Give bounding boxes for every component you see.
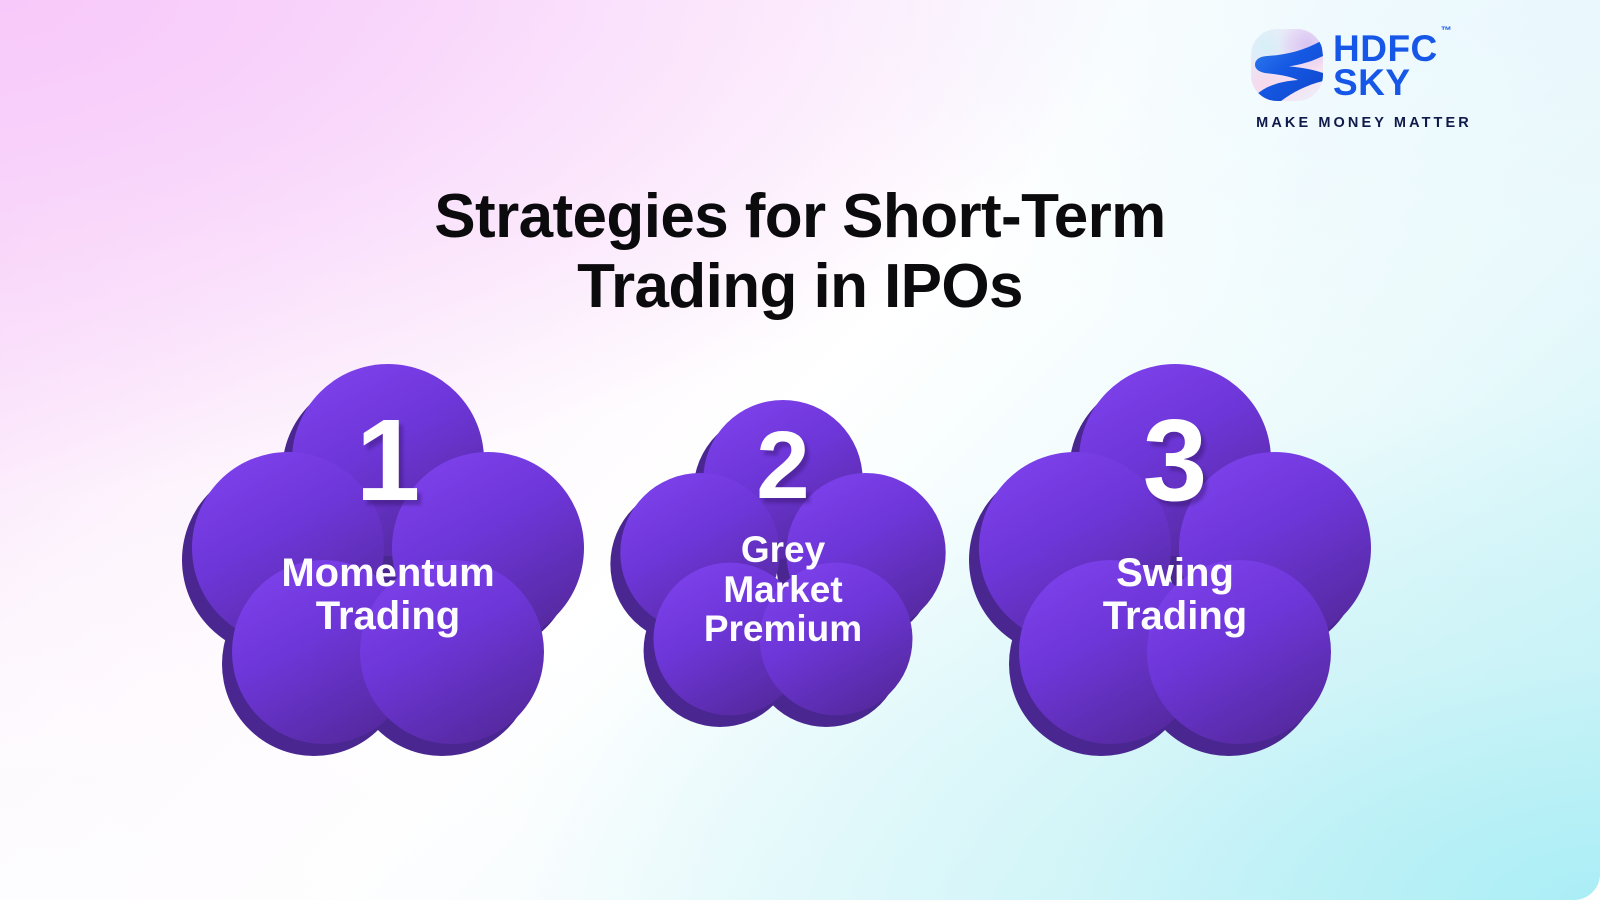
- strategy-card-2[interactable]: 2 Grey Market Premium: [617, 390, 949, 722]
- strategy-flower-group: 1 Momentum Trading: [0, 0, 1600, 900]
- poster-canvas: HDFC SKY ™ MAKE MONEY MATTER Strategies …: [0, 0, 1600, 900]
- strategy-card-1[interactable]: 1 Momentum Trading: [188, 352, 588, 752]
- strategy-card-3[interactable]: 3 Swing Trading: [975, 352, 1375, 752]
